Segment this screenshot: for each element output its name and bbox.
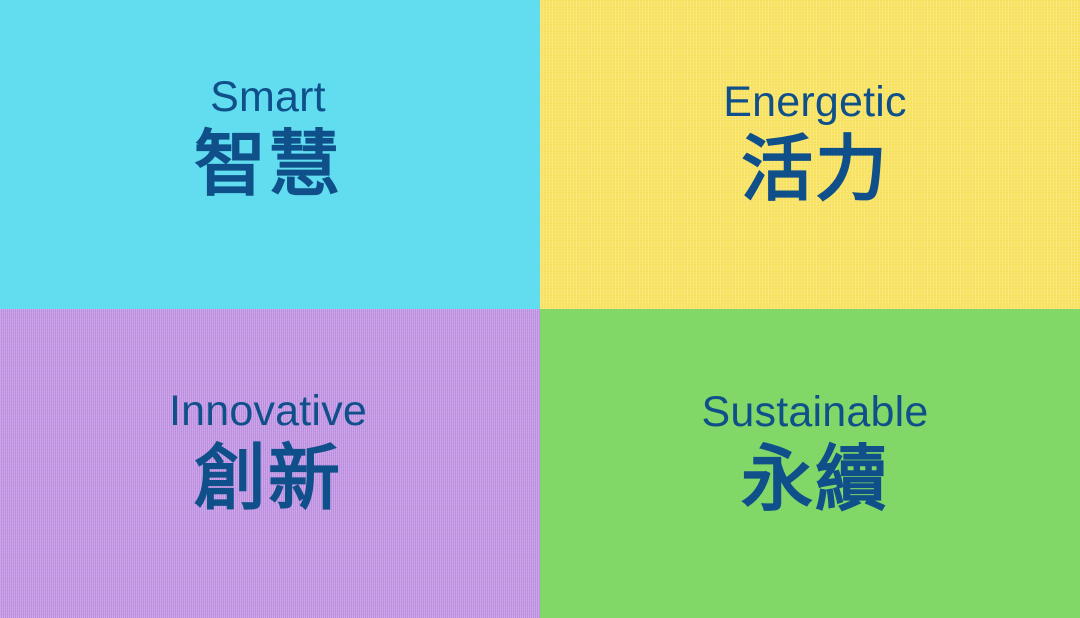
quadrant-energetic-label-zh: 活力 bbox=[741, 131, 889, 207]
quadrant-innovative-label-zh: 創新 bbox=[194, 440, 342, 516]
quadrant-energetic-text: Energetic 活力 bbox=[723, 80, 906, 207]
quadrant-innovative-label-en: Innovative bbox=[169, 389, 367, 434]
quadrant-energetic-label-en: Energetic bbox=[723, 80, 906, 125]
quadrant-smart-text: Smart 智慧 bbox=[194, 75, 342, 202]
quadrant-sustainable-label-zh: 永續 bbox=[741, 441, 889, 517]
quadrant-sustainable-text: Sustainable 永續 bbox=[702, 390, 929, 517]
quadrant-smart[interactable]: Smart 智慧 bbox=[0, 0, 540, 309]
quadrant-smart-label-zh: 智慧 bbox=[194, 126, 342, 202]
quadrant-innovative-text: Innovative 創新 bbox=[169, 389, 367, 516]
quadrant-energetic[interactable]: Energetic 活力 bbox=[540, 0, 1080, 309]
quadrant-innovative[interactable]: Innovative 創新 bbox=[0, 309, 540, 618]
brand-values-board: Smart 智慧 Energetic 活力 Innovative 創新 Sust… bbox=[0, 0, 1080, 618]
quadrant-sustainable-label-en: Sustainable bbox=[702, 390, 929, 435]
quadrant-smart-label-en: Smart bbox=[210, 75, 326, 120]
quadrant-sustainable[interactable]: Sustainable 永續 bbox=[540, 309, 1080, 618]
